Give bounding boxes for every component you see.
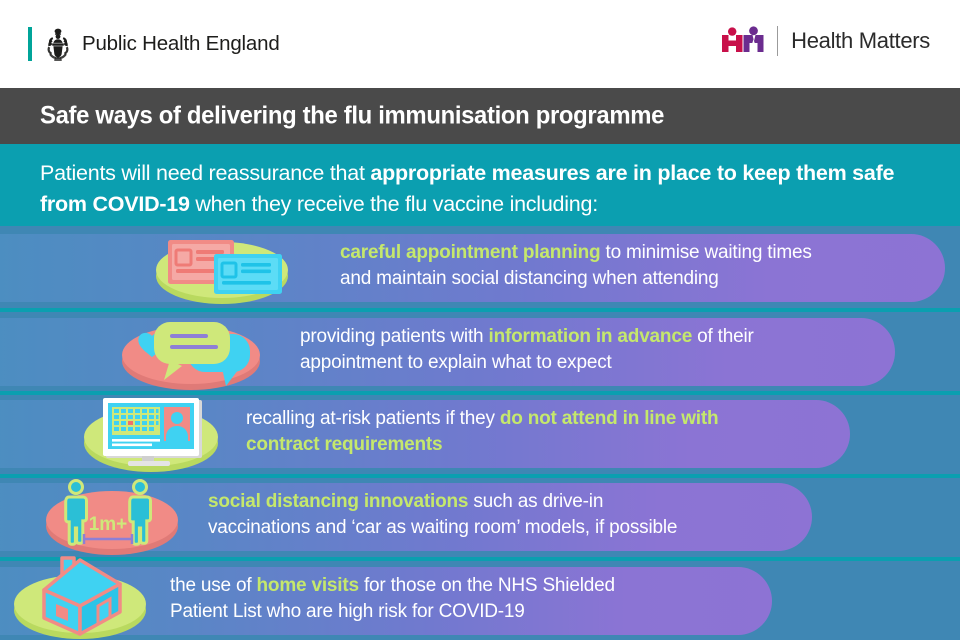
- row-4-line2: vaccinations and ‘car as waiting room’ m…: [208, 517, 677, 538]
- row-4-line1-post: such as drive-in: [468, 491, 603, 512]
- row-2-text: providing patients with information in a…: [300, 324, 920, 376]
- title-bar: Safe ways of delivering the flu immunisa…: [0, 88, 960, 144]
- hm-monogram-icon: [721, 26, 765, 56]
- intro-part-3: when they receive the flu vaccine includ…: [190, 192, 598, 216]
- health-matters-wordmark: Health Matters: [791, 28, 930, 54]
- row-5-highlight: home visits: [257, 575, 359, 596]
- row-5-line1-post: for those on the NHS Shielded: [359, 575, 615, 596]
- infographic-poster: Public Health England Health Matte: [0, 0, 960, 640]
- home-visit-house-icon: [22, 546, 142, 640]
- row-2-line1-post: of their: [692, 326, 754, 347]
- royal-crest-icon: [43, 27, 73, 61]
- row-1-line2: and maintain social distancing when atte…: [340, 268, 719, 289]
- page-title: Safe ways of delivering the flu immunisa…: [40, 102, 664, 131]
- speech-bubbles-heart-icon: [126, 312, 266, 393]
- page-header: Public Health England Health Matte: [0, 0, 960, 88]
- monitor-calendar-patient-icon: [98, 396, 210, 473]
- row-3-text: recalling at-risk patients if they do no…: [246, 406, 886, 458]
- intro-part-1: Patients will need reassurance that: [40, 161, 370, 185]
- logo-accent-bar: [28, 27, 32, 61]
- logo-divider: [777, 26, 778, 56]
- row-5-text: the use of home visits for those on the …: [170, 573, 810, 625]
- row-3-highlight: do not attend in line with: [500, 408, 719, 429]
- row-4-text: social distancing innovations such as dr…: [208, 489, 848, 541]
- health-matters-logo: Health Matters: [721, 26, 930, 56]
- band-separator-3: [0, 391, 960, 395]
- public-health-england-logo: Public Health England: [28, 27, 280, 61]
- row-5-line1-pre: the use of: [170, 575, 257, 596]
- appointment-cards-icon: [164, 234, 289, 301]
- row-1-text: careful appointment planning to minimise…: [340, 240, 940, 292]
- intro-section: Patients will need reassurance that appr…: [0, 144, 960, 226]
- row-1-highlight: careful appointment planning: [340, 242, 600, 263]
- distance-label: 1m+: [89, 514, 128, 535]
- row-5-line2: Patient List who are high risk for COVID…: [170, 601, 525, 622]
- row-4-highlight: social distancing innovations: [208, 491, 468, 512]
- row-1-line1-rest: to minimise waiting times: [600, 242, 811, 263]
- band-separator-5: [0, 557, 960, 561]
- row-2-highlight: information in advance: [488, 326, 692, 347]
- row-3-line2-highlight: contract requirements: [246, 434, 442, 455]
- row-3-line1-pre: recalling at-risk patients if they: [246, 408, 500, 429]
- rows-container: careful appointment planning to minimise…: [0, 226, 960, 640]
- row-2-line2: appointment to explain what to expect: [300, 352, 612, 373]
- intro-paragraph: Patients will need reassurance that appr…: [40, 158, 920, 220]
- phe-wordmark: Public Health England: [82, 32, 280, 56]
- row-2-line1-pre: providing patients with: [300, 326, 488, 347]
